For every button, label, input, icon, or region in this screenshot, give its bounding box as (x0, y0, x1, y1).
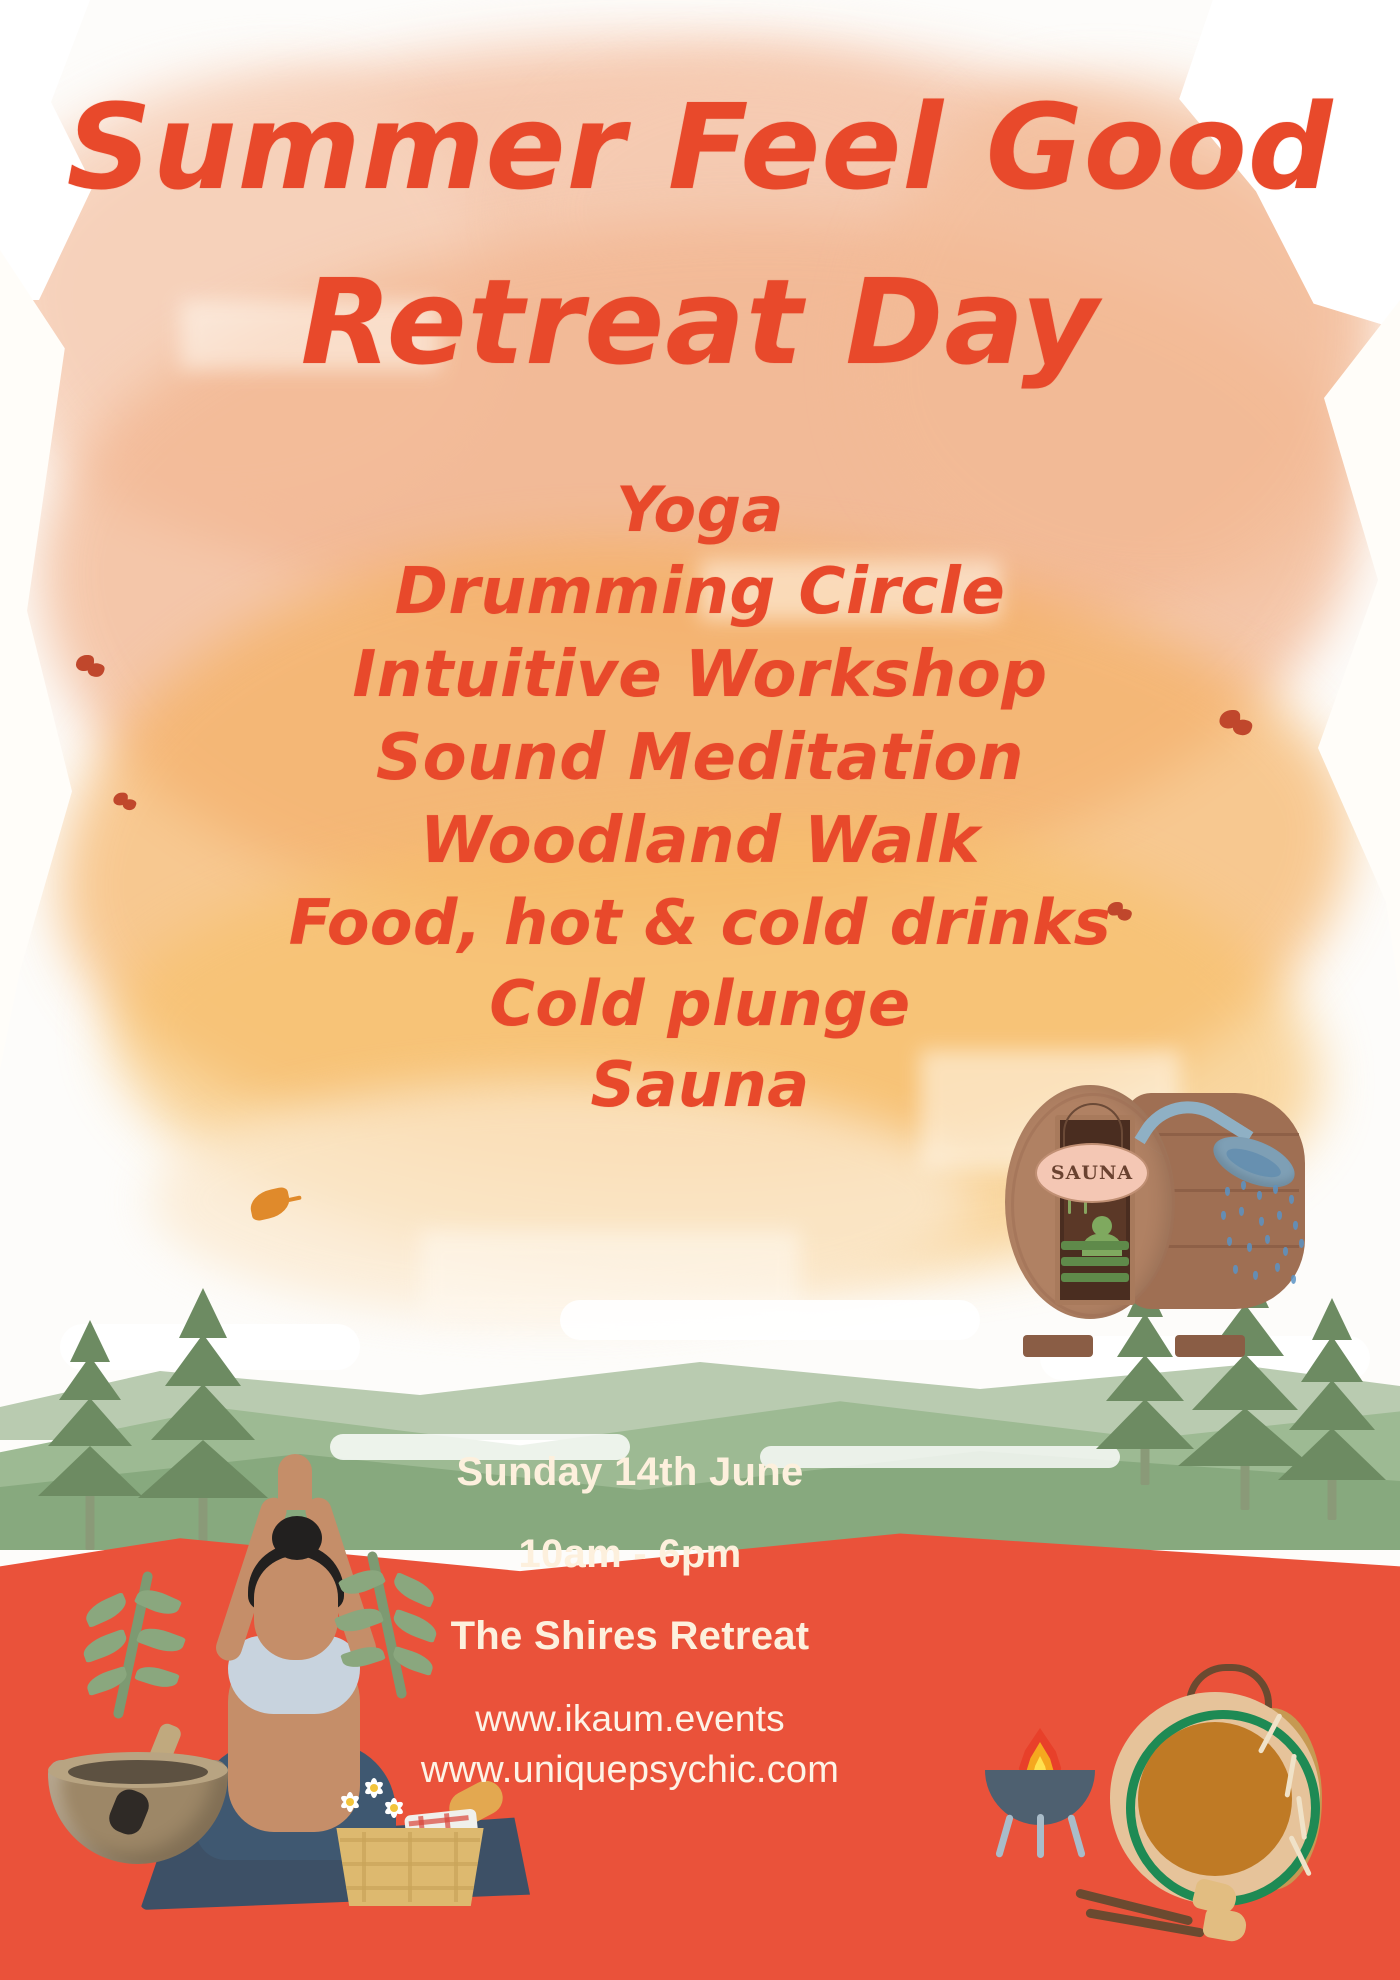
title-line-1: Summer Feel Good (0, 88, 1400, 206)
activity-item-food: Food, hot & cold drinks (0, 883, 1400, 964)
website-link-secondary[interactable]: www.uniquepsychic.com (250, 1749, 1010, 1792)
butterfly-decoration (113, 793, 140, 814)
website-link-primary[interactable]: www.ikaum.events (250, 1698, 1010, 1739)
frame-drum-illustration (1110, 1692, 1340, 1922)
butterfly-decoration (1108, 902, 1137, 924)
sauna-sign-label: SAUNA (1051, 1162, 1133, 1184)
activity-item-sound: Sound Meditation (0, 717, 1400, 800)
event-date: Sunday 14th June (250, 1452, 1010, 1492)
sauna-barrel-illustration: SAUNA (1005, 1085, 1305, 1335)
page-title: Summer Feel Good Retreat Day (0, 88, 1400, 388)
sauna-sign: SAUNA (1035, 1143, 1149, 1203)
butterfly-decoration (76, 655, 110, 681)
activity-item-yoga: Yoga (0, 470, 1400, 551)
activity-item-woodland: Woodland Walk (0, 800, 1400, 883)
event-details: Sunday 14th June 10am - 6pm The Shires R… (250, 1452, 1010, 1792)
singing-bowl-illustration (48, 1734, 238, 1874)
event-venue: The Shires Retreat (250, 1616, 1010, 1656)
activity-item-drumming: Drumming Circle (0, 551, 1400, 634)
water-drops (1219, 1181, 1305, 1291)
title-line-2: Retreat Day (0, 256, 1400, 388)
event-time: 10am - 6pm (250, 1534, 1010, 1574)
poster-canvas: Summer Feel Good Retreat Day Yoga Drummi… (0, 0, 1400, 1980)
activity-item-intuitive: Intuitive Workshop (0, 634, 1400, 717)
activity-item-cold-plunge: Cold plunge (0, 964, 1400, 1045)
picnic-basket-illustration (330, 1776, 490, 1906)
butterfly-decoration (1219, 710, 1258, 740)
activities-list: Yoga Drumming Circle Intuitive Workshop … (0, 470, 1400, 1125)
